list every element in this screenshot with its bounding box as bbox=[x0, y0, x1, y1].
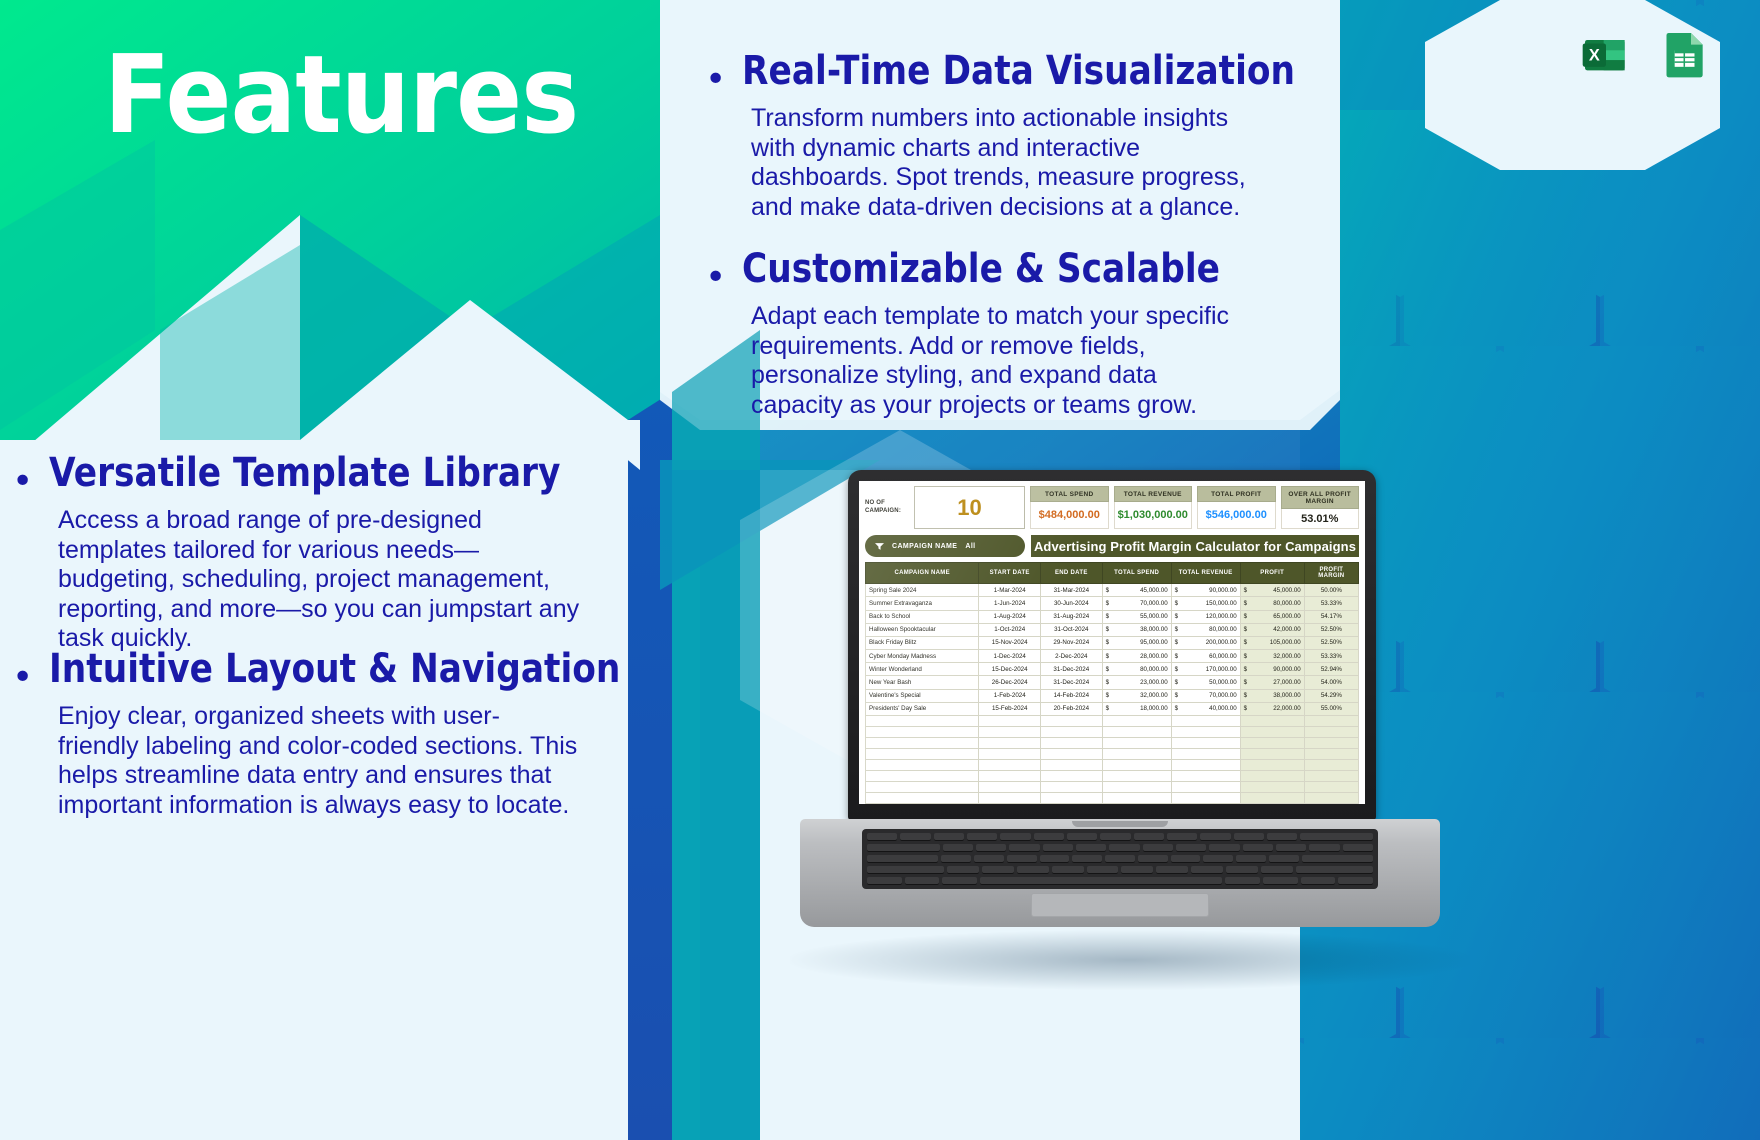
cell-start-date: 15-Dec-2024 bbox=[979, 663, 1041, 676]
kpi-total-revenue: TOTAL REVENUE $1,030,000.00 bbox=[1114, 486, 1193, 529]
cell-empty bbox=[866, 738, 979, 749]
table-row[interactable]: Presidents' Day Sale15-Feb-202420-Feb-20… bbox=[866, 702, 1359, 715]
cell-profit-margin: 52.50% bbox=[1304, 636, 1358, 649]
table-body: Spring Sale 20241-Mar-202431-Mar-2024$45… bbox=[866, 584, 1359, 804]
table-row-empty[interactable] bbox=[866, 727, 1359, 738]
cell-campaign-name: Presidents' Day Sale bbox=[866, 702, 979, 715]
cell-end-date: 2-Dec-2024 bbox=[1041, 650, 1103, 663]
cell-empty bbox=[866, 771, 979, 782]
table-row[interactable]: Cyber Monday Madness1-Dec-20242-Dec-2024… bbox=[866, 650, 1359, 663]
cell-empty bbox=[1171, 738, 1240, 749]
cell-campaign-name: Spring Sale 2024 bbox=[866, 584, 979, 597]
cell-start-date: 15-Feb-2024 bbox=[979, 702, 1041, 715]
kpi-value: 53.01% bbox=[1281, 509, 1360, 529]
cell-start-date: 1-Oct-2024 bbox=[979, 623, 1041, 636]
cell-total-spend: $38,000.00 bbox=[1102, 623, 1171, 636]
cell-empty bbox=[1240, 716, 1304, 727]
cell-total-spend: $55,000.00 bbox=[1102, 610, 1171, 623]
feature-title: Real-Time Data Visualization bbox=[742, 50, 1295, 92]
cell-profit: $32,000.00 bbox=[1240, 650, 1304, 663]
campaign-name-filter[interactable]: CAMPAIGN NAME All bbox=[865, 535, 1025, 557]
feature-heading-row: • Intuitive Layout & Navigation bbox=[12, 648, 632, 696]
cell-empty bbox=[866, 749, 979, 760]
cell-profit-margin: 53.33% bbox=[1304, 650, 1358, 663]
cell-total-revenue: $80,000.00 bbox=[1171, 623, 1240, 636]
table-row-empty[interactable] bbox=[866, 749, 1359, 760]
cell-empty bbox=[1041, 771, 1103, 782]
cell-campaign-name: New Year Bash bbox=[866, 676, 979, 689]
cell-empty bbox=[1041, 749, 1103, 760]
bullet-icon: • bbox=[705, 260, 726, 296]
cell-empty bbox=[1240, 782, 1304, 793]
cell-end-date: 31-Aug-2024 bbox=[1041, 610, 1103, 623]
table-row[interactable]: Summer Extravaganza1-Jun-202430-Jun-2024… bbox=[866, 597, 1359, 610]
feature-title: Versatile Template Library bbox=[49, 452, 560, 494]
cell-total-revenue: $50,000.00 bbox=[1171, 676, 1240, 689]
feature-body: Transform numbers into actionable insigh… bbox=[751, 104, 1251, 222]
cell-empty bbox=[1171, 782, 1240, 793]
cell-empty bbox=[1240, 760, 1304, 771]
cell-empty bbox=[1102, 760, 1171, 771]
cell-end-date: 14-Feb-2024 bbox=[1041, 689, 1103, 702]
cell-profit: $80,000.00 bbox=[1240, 597, 1304, 610]
col-end-date: END DATE bbox=[1041, 563, 1103, 584]
cell-empty bbox=[1171, 716, 1240, 727]
cell-empty bbox=[1041, 716, 1103, 727]
sheet-title: Advertising Profit Margin Calculator for… bbox=[1031, 535, 1359, 557]
table-row-empty[interactable] bbox=[866, 782, 1359, 793]
table-row[interactable]: Black Friday Blitz15-Nov-202429-Nov-2024… bbox=[866, 636, 1359, 649]
cell-empty bbox=[979, 738, 1041, 749]
table-row-empty[interactable] bbox=[866, 716, 1359, 727]
spreadsheet-app: NO OF CAMPAIGN: 10 TOTAL SPEND $484,000.… bbox=[859, 481, 1365, 804]
cell-empty bbox=[1171, 727, 1240, 738]
cell-total-revenue: $120,000.00 bbox=[1171, 610, 1240, 623]
table-row[interactable]: Winter Wonderland15-Dec-202431-Dec-2024$… bbox=[866, 663, 1359, 676]
cell-empty bbox=[866, 716, 979, 727]
cell-start-date: 15-Nov-2024 bbox=[979, 636, 1041, 649]
cell-empty bbox=[1102, 738, 1171, 749]
cell-empty bbox=[1304, 782, 1358, 793]
cell-start-date: 1-Mar-2024 bbox=[979, 584, 1041, 597]
table-row[interactable]: Valentine's Special1-Feb-202414-Feb-2024… bbox=[866, 689, 1359, 702]
cell-empty bbox=[1304, 738, 1358, 749]
cell-empty bbox=[1304, 793, 1358, 804]
table-row-empty[interactable] bbox=[866, 771, 1359, 782]
kpi-label: OVER ALL PROFIT MARGIN bbox=[1281, 486, 1360, 509]
cell-empty bbox=[1304, 760, 1358, 771]
bullet-icon: • bbox=[12, 464, 33, 500]
cell-total-spend: $45,000.00 bbox=[1102, 584, 1171, 597]
cell-empty bbox=[1041, 738, 1103, 749]
cell-total-revenue: $40,000.00 bbox=[1171, 702, 1240, 715]
keyboard-row bbox=[867, 877, 1373, 885]
cell-empty bbox=[1240, 749, 1304, 760]
table-row-empty[interactable] bbox=[866, 760, 1359, 771]
laptop-screen: NO OF CAMPAIGN: 10 TOTAL SPEND $484,000.… bbox=[859, 481, 1365, 804]
cell-end-date: 31-Mar-2024 bbox=[1041, 584, 1103, 597]
cell-total-spend: $80,000.00 bbox=[1102, 663, 1171, 676]
cell-profit-margin: 54.00% bbox=[1304, 676, 1358, 689]
filter-value: All bbox=[965, 543, 975, 550]
cell-empty bbox=[979, 716, 1041, 727]
cell-campaign-name: Winter Wonderland bbox=[866, 663, 979, 676]
kpi-value: $484,000.00 bbox=[1030, 502, 1109, 529]
cell-total-spend: $28,000.00 bbox=[1102, 650, 1171, 663]
feature-title: Customizable & Scalable bbox=[742, 248, 1220, 290]
cell-profit-margin: 52.50% bbox=[1304, 623, 1358, 636]
cell-empty bbox=[1041, 727, 1103, 738]
cell-profit-margin: 53.33% bbox=[1304, 597, 1358, 610]
cell-empty bbox=[979, 793, 1041, 804]
cell-empty bbox=[1102, 782, 1171, 793]
cell-end-date: 31-Oct-2024 bbox=[1041, 623, 1103, 636]
kpi-total-spend: TOTAL SPEND $484,000.00 bbox=[1030, 486, 1109, 529]
bullet-icon: • bbox=[705, 62, 726, 98]
feature-heading-row: • Versatile Template Library bbox=[12, 452, 612, 500]
cell-empty bbox=[1102, 793, 1171, 804]
cell-empty bbox=[1171, 793, 1240, 804]
keyboard-row bbox=[867, 855, 1373, 863]
cell-total-spend: $70,000.00 bbox=[1102, 597, 1171, 610]
cell-start-date: 1-Aug-2024 bbox=[979, 610, 1041, 623]
cell-empty bbox=[979, 782, 1041, 793]
kpi-value: $1,030,000.00 bbox=[1114, 502, 1193, 529]
col-start-date: START DATE bbox=[979, 563, 1041, 584]
cell-end-date: 31-Dec-2024 bbox=[1041, 676, 1103, 689]
col-profit-margin: PROFIT MARGIN bbox=[1304, 563, 1358, 584]
slide-canvas: Features X bbox=[0, 0, 1760, 1140]
cell-profit: $90,000.00 bbox=[1240, 663, 1304, 676]
cell-empty bbox=[1102, 716, 1171, 727]
cell-profit: $65,000.00 bbox=[1240, 610, 1304, 623]
feature-versatile-template-library: • Versatile Template Library Access a br… bbox=[12, 452, 612, 654]
cell-end-date: 30-Jun-2024 bbox=[1041, 597, 1103, 610]
cell-empty bbox=[1304, 716, 1358, 727]
cell-campaign-name: Halloween Spooktacular bbox=[866, 623, 979, 636]
cell-empty bbox=[1171, 749, 1240, 760]
cell-profit: $27,000.00 bbox=[1240, 676, 1304, 689]
cell-empty bbox=[979, 749, 1041, 760]
cell-profit-margin: 54.29% bbox=[1304, 689, 1358, 702]
cell-campaign-name: Cyber Monday Madness bbox=[866, 650, 979, 663]
feature-heading-row: • Real-Time Data Visualization bbox=[705, 50, 1305, 98]
cell-empty bbox=[1171, 771, 1240, 782]
google-sheets-icon[interactable] bbox=[1656, 26, 1712, 82]
cell-profit-margin: 54.17% bbox=[1304, 610, 1358, 623]
laptop-mockup: NO OF CAMPAIGN: 10 TOTAL SPEND $484,000.… bbox=[800, 470, 1440, 970]
feature-heading-row: • Customizable & Scalable bbox=[705, 248, 1305, 296]
cell-total-spend: $18,000.00 bbox=[1102, 702, 1171, 715]
table-row[interactable]: New Year Bash26-Dec-202431-Dec-2024$23,0… bbox=[866, 676, 1359, 689]
cell-profit: $42,000.00 bbox=[1240, 623, 1304, 636]
cell-empty bbox=[1304, 727, 1358, 738]
app-icons-group: X bbox=[1578, 26, 1712, 82]
feature-title: Intuitive Layout & Navigation bbox=[49, 648, 620, 690]
kpi-total-profit: TOTAL PROFIT $546,000.00 bbox=[1197, 486, 1276, 529]
campaign-table: CAMPAIGN NAME START DATE END DATE TOTAL … bbox=[865, 562, 1359, 804]
campaign-count-value[interactable]: 10 bbox=[914, 486, 1025, 529]
filter-label: CAMPAIGN NAME bbox=[892, 543, 957, 550]
cell-start-date: 1-Feb-2024 bbox=[979, 689, 1041, 702]
cell-empty bbox=[1240, 727, 1304, 738]
cell-total-revenue: $170,000.00 bbox=[1171, 663, 1240, 676]
cell-empty bbox=[1304, 749, 1358, 760]
cell-profit: $22,000.00 bbox=[1240, 702, 1304, 715]
kpi-label: TOTAL REVENUE bbox=[1114, 486, 1193, 502]
cell-empty bbox=[1304, 771, 1358, 782]
cell-empty bbox=[1041, 760, 1103, 771]
col-total-revenue: TOTAL REVENUE bbox=[1171, 563, 1240, 584]
filter-and-title-row: CAMPAIGN NAME All Advertising Profit Mar… bbox=[865, 535, 1359, 557]
cell-total-spend: $32,000.00 bbox=[1102, 689, 1171, 702]
cell-campaign-name: Back to School bbox=[866, 610, 979, 623]
cell-empty bbox=[979, 727, 1041, 738]
cell-empty bbox=[1102, 727, 1171, 738]
cell-profit: $38,000.00 bbox=[1240, 689, 1304, 702]
table-row[interactable]: Halloween Spooktacular1-Oct-202431-Oct-2… bbox=[866, 623, 1359, 636]
kpi-overall-profit-margin: OVER ALL PROFIT MARGIN 53.01% bbox=[1281, 486, 1360, 529]
cell-empty bbox=[979, 760, 1041, 771]
cell-empty bbox=[866, 727, 979, 738]
excel-icon[interactable]: X bbox=[1578, 26, 1634, 82]
campaign-count-label: NO OF CAMPAIGN: bbox=[865, 500, 909, 515]
feature-intuitive-layout-navigation: • Intuitive Layout & Navigation Enjoy cl… bbox=[12, 648, 632, 820]
cell-empty bbox=[1240, 738, 1304, 749]
feature-body: Access a broad range of pre-designed tem… bbox=[58, 506, 588, 654]
cell-campaign-name: Black Friday Blitz bbox=[866, 636, 979, 649]
kpi-label: TOTAL PROFIT bbox=[1197, 486, 1276, 502]
bullet-icon: • bbox=[12, 660, 33, 696]
page-title: Features bbox=[104, 42, 578, 150]
cell-end-date: 31-Dec-2024 bbox=[1041, 663, 1103, 676]
cell-empty bbox=[1102, 771, 1171, 782]
col-profit: PROFIT bbox=[1240, 563, 1304, 584]
cell-profit-margin: 55.00% bbox=[1304, 702, 1358, 715]
col-campaign-name: CAMPAIGN NAME bbox=[866, 563, 979, 584]
laptop-base bbox=[800, 819, 1440, 927]
table-row-empty[interactable] bbox=[866, 793, 1359, 804]
cell-total-revenue: $90,000.00 bbox=[1171, 584, 1240, 597]
cell-total-revenue: $200,000.00 bbox=[1171, 636, 1240, 649]
cell-total-revenue: $150,000.00 bbox=[1171, 597, 1240, 610]
cell-total-spend: $95,000.00 bbox=[1102, 636, 1171, 649]
cell-empty bbox=[866, 760, 979, 771]
cell-empty bbox=[866, 782, 979, 793]
cell-end-date: 20-Feb-2024 bbox=[1041, 702, 1103, 715]
cell-empty bbox=[1041, 782, 1103, 793]
kpi-value: $546,000.00 bbox=[1197, 502, 1276, 529]
cell-empty bbox=[1240, 793, 1304, 804]
table-header-row: CAMPAIGN NAME START DATE END DATE TOTAL … bbox=[866, 563, 1359, 584]
feature-customizable-scalable: • Customizable & Scalable Adapt each tem… bbox=[705, 248, 1305, 420]
cell-empty bbox=[1171, 760, 1240, 771]
cell-campaign-name: Valentine's Special bbox=[866, 689, 979, 702]
kpi-row: NO OF CAMPAIGN: 10 TOTAL SPEND $484,000.… bbox=[865, 486, 1359, 529]
cell-profit: $105,000.00 bbox=[1240, 636, 1304, 649]
cell-empty bbox=[1240, 771, 1304, 782]
cell-empty bbox=[866, 793, 979, 804]
cell-profit: $45,000.00 bbox=[1240, 584, 1304, 597]
laptop-lid: NO OF CAMPAIGN: 10 TOTAL SPEND $484,000.… bbox=[848, 470, 1376, 820]
feature-body: Enjoy clear, organized sheets with user-… bbox=[58, 702, 578, 820]
keyboard-row bbox=[867, 866, 1373, 874]
kpi-label: TOTAL SPEND bbox=[1030, 486, 1109, 502]
table-row-empty[interactable] bbox=[866, 738, 1359, 749]
cell-total-revenue: $60,000.00 bbox=[1171, 650, 1240, 663]
feature-realtime-data-visualization: • Real-Time Data Visualization Transform… bbox=[705, 50, 1305, 222]
laptop-keyboard[interactable] bbox=[862, 829, 1378, 889]
cell-end-date: 29-Nov-2024 bbox=[1041, 636, 1103, 649]
cell-start-date: 26-Dec-2024 bbox=[979, 676, 1041, 689]
keyboard-row bbox=[867, 844, 1373, 852]
col-total-spend: TOTAL SPEND bbox=[1102, 563, 1171, 584]
table-row[interactable]: Spring Sale 20241-Mar-202431-Mar-2024$45… bbox=[866, 584, 1359, 597]
laptop-trackpad[interactable] bbox=[1031, 893, 1209, 917]
cell-start-date: 1-Dec-2024 bbox=[979, 650, 1041, 663]
cell-profit-margin: 52.94% bbox=[1304, 663, 1358, 676]
cell-total-spend: $23,000.00 bbox=[1102, 676, 1171, 689]
cell-empty bbox=[1102, 749, 1171, 760]
cell-campaign-name: Summer Extravaganza bbox=[866, 597, 979, 610]
campaign-count-widget: NO OF CAMPAIGN: 10 bbox=[865, 486, 1025, 529]
laptop-base-notch bbox=[1072, 821, 1168, 827]
cell-empty bbox=[1041, 793, 1103, 804]
keyboard-row bbox=[867, 833, 1373, 841]
cell-empty bbox=[979, 771, 1041, 782]
funnel-icon bbox=[875, 543, 884, 550]
cell-total-revenue: $70,000.00 bbox=[1171, 689, 1240, 702]
cell-start-date: 1-Jun-2024 bbox=[979, 597, 1041, 610]
table-row[interactable]: Back to School1-Aug-202431-Aug-2024$55,0… bbox=[866, 610, 1359, 623]
feature-body: Adapt each template to match your specif… bbox=[751, 302, 1251, 420]
svg-text:X: X bbox=[1589, 47, 1600, 65]
cell-profit-margin: 50.00% bbox=[1304, 584, 1358, 597]
